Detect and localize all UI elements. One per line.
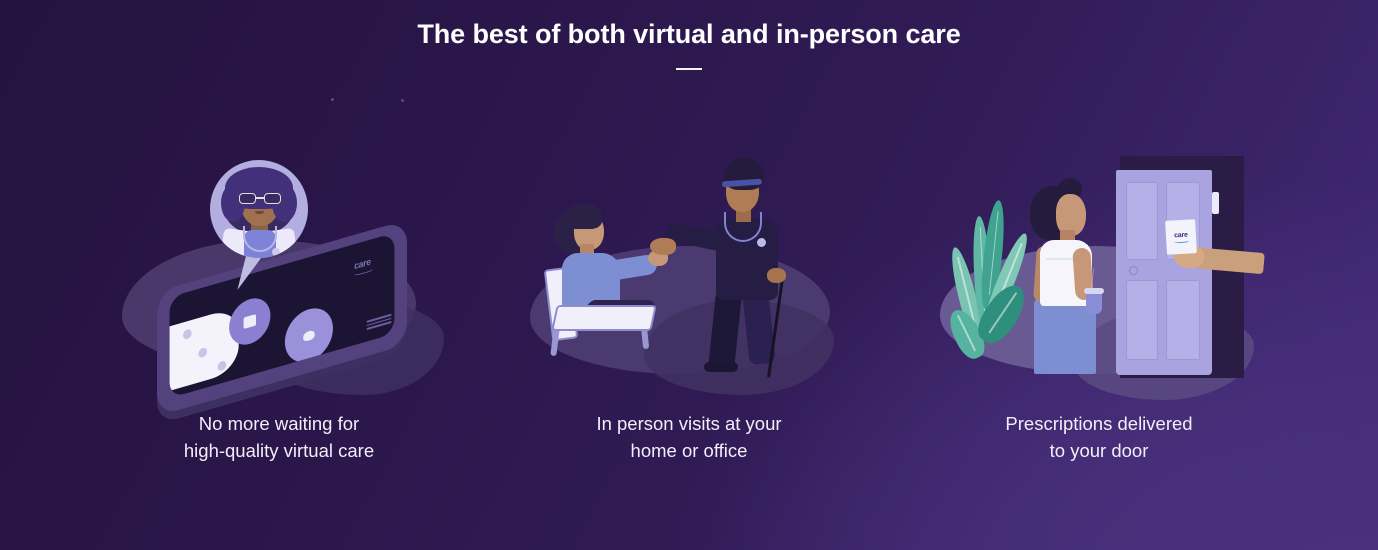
armchair-seat bbox=[551, 305, 657, 331]
care-package: care bbox=[1165, 219, 1197, 255]
decorative-dot bbox=[331, 98, 334, 101]
illustration-tablet-with-doctor-video-call: care bbox=[114, 150, 444, 400]
care-logo-swoosh-icon bbox=[1174, 239, 1189, 243]
microphone-icon bbox=[303, 329, 315, 342]
door-panel bbox=[1126, 280, 1158, 360]
feature-in-person-visit: In person visits at your home or office bbox=[484, 150, 894, 464]
coffee-cup-lid bbox=[1084, 288, 1104, 294]
stethoscope-bell-icon bbox=[272, 248, 280, 256]
feature-columns: care bbox=[0, 150, 1378, 464]
clinician-shoe bbox=[704, 362, 738, 372]
glasses-icon bbox=[239, 193, 281, 204]
stethoscope-bell-icon bbox=[757, 238, 766, 247]
care-logo-text: care bbox=[1174, 231, 1188, 239]
page-title: The best of both virtual and in-person c… bbox=[0, 18, 1378, 50]
feature-caption: Prescriptions delivered to your door bbox=[1005, 410, 1192, 464]
title-divider bbox=[676, 68, 702, 70]
clinician-hand-on-bag bbox=[767, 268, 786, 283]
feature-virtual-care: care bbox=[74, 150, 484, 464]
front-door[interactable] bbox=[1116, 170, 1212, 375]
patient-hair-top bbox=[564, 203, 602, 229]
door-panel bbox=[1166, 280, 1200, 360]
potted-plant bbox=[940, 200, 1036, 370]
illustration-package-delivered-at-door: care bbox=[934, 150, 1264, 400]
clinician-hand bbox=[650, 238, 676, 255]
hero-header: The best of both virtual and in-person c… bbox=[0, 0, 1378, 70]
feature-caption: No more waiting for high-quality virtual… bbox=[184, 410, 374, 464]
coffee-cup bbox=[1086, 292, 1102, 314]
feature-prescription-delivery: care Prescriptions delivered to your doo… bbox=[894, 150, 1304, 464]
video-icon bbox=[244, 314, 256, 329]
video-call-button[interactable] bbox=[229, 293, 270, 350]
feature-caption: In person visits at your home or office bbox=[596, 410, 781, 464]
illustration-clinician-greeting-seated-patient bbox=[524, 150, 854, 400]
doctor-avatar bbox=[210, 160, 308, 258]
door-edge-highlight bbox=[1212, 192, 1219, 214]
care-logo: care bbox=[354, 255, 373, 276]
door-panel bbox=[1126, 182, 1158, 260]
decorative-dot bbox=[401, 99, 404, 102]
door-knob[interactable] bbox=[1129, 266, 1138, 275]
